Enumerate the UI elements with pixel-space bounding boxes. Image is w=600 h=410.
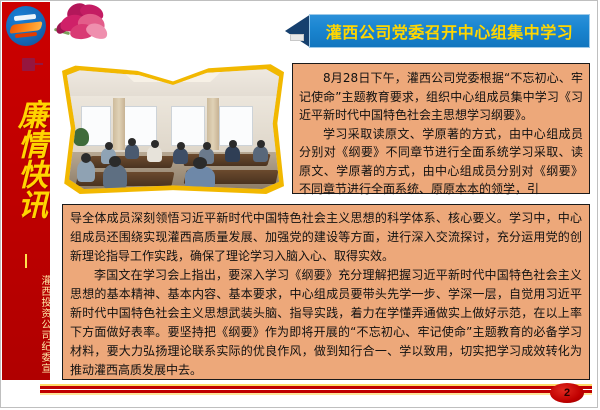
photo-person — [125, 144, 139, 159]
headline-tail-notch — [290, 34, 304, 41]
footer-rule — [40, 384, 592, 396]
logo-circle-icon — [6, 6, 46, 46]
banner-title: 廉情快讯 — [2, 70, 50, 248]
photo-person — [253, 146, 268, 162]
photo-ceiling — [67, 68, 279, 98]
photo-person-head — [151, 140, 159, 148]
article-paragraph: 学习采取读原文、学原著的方式，由中心组成员分别对《纲要》不同章节进行全面系统学习… — [299, 125, 583, 199]
photo-person-head — [257, 140, 265, 148]
photo-person-head — [193, 157, 207, 169]
photo-person-head — [81, 153, 91, 163]
photo-frame — [62, 63, 284, 194]
article-paragraph: 导全体成员深刻领悟习近平新时代中国特色社会主义思想的科学体系、核心要义。学习中，… — [70, 209, 582, 266]
banner-subtitle: 灌西投资公司纪委宣 — [2, 272, 50, 376]
photo-person-head — [109, 156, 121, 167]
photo-person — [147, 146, 162, 162]
left-red-banner: 廉情快讯 灌西投资公司纪委宣 — [2, 2, 50, 380]
article-paragraph: 8月28日下午，灌西公司党委根据“不忘初心、牢记使命”主题教育要求，组织中心组成… — [299, 69, 583, 125]
headline-text: 灌西公司党委召开中心组集中学习 — [326, 19, 574, 43]
headline-banner: 灌西公司党委召开中心组集中学习 — [285, 14, 590, 48]
page-number-badge: 2 — [550, 383, 584, 403]
photo-person-head — [128, 138, 136, 146]
company-logo — [6, 6, 46, 46]
photo-pillar — [113, 98, 125, 150]
photo-window — [219, 106, 253, 146]
headline-arrow-icon — [285, 14, 311, 48]
photo-person-foreground — [103, 164, 127, 189]
photo-person — [173, 148, 188, 164]
photo-person-foreground — [185, 166, 215, 189]
logo-swoosh-lower — [15, 32, 37, 38]
photo-person-head — [177, 142, 185, 150]
article-top-textbox: 8月28日下午，灌西公司党委根据“不忘初心、牢记使命”主题教育要求，组织中心组成… — [292, 63, 590, 194]
magnolia-flower-icon — [52, 2, 116, 50]
meeting-room-photo — [67, 68, 279, 189]
photo-person-head — [229, 140, 237, 148]
photo-plant — [73, 128, 89, 146]
photo-person — [225, 146, 240, 162]
footer-rule-gold-bottom — [40, 393, 592, 395]
article-bottom-textbox: 导全体成员深刻领悟习近平新时代中国特色社会主义思想的科学体系、核心要义。学习中，… — [62, 204, 590, 380]
photo-person-head — [203, 142, 211, 150]
logo-swoosh-upper — [14, 14, 36, 21]
article-paragraph: 李国文在学习会上指出，要深入学习《纲要》充分理解把握习近平新时代中国特色社会主义… — [70, 266, 582, 380]
photo-person-head — [105, 142, 113, 150]
headline-body: 灌西公司党委召开中心组集中学习 — [309, 14, 590, 48]
photo-ceiling-light — [119, 68, 225, 82]
photo-person-foreground — [77, 160, 95, 182]
banner-divider — [25, 254, 27, 268]
photo-window — [171, 106, 205, 146]
newsletter-page: 廉情快讯 灌西投资公司纪委宣 灌西公司党委召开中心组集中学习 — [0, 0, 600, 410]
